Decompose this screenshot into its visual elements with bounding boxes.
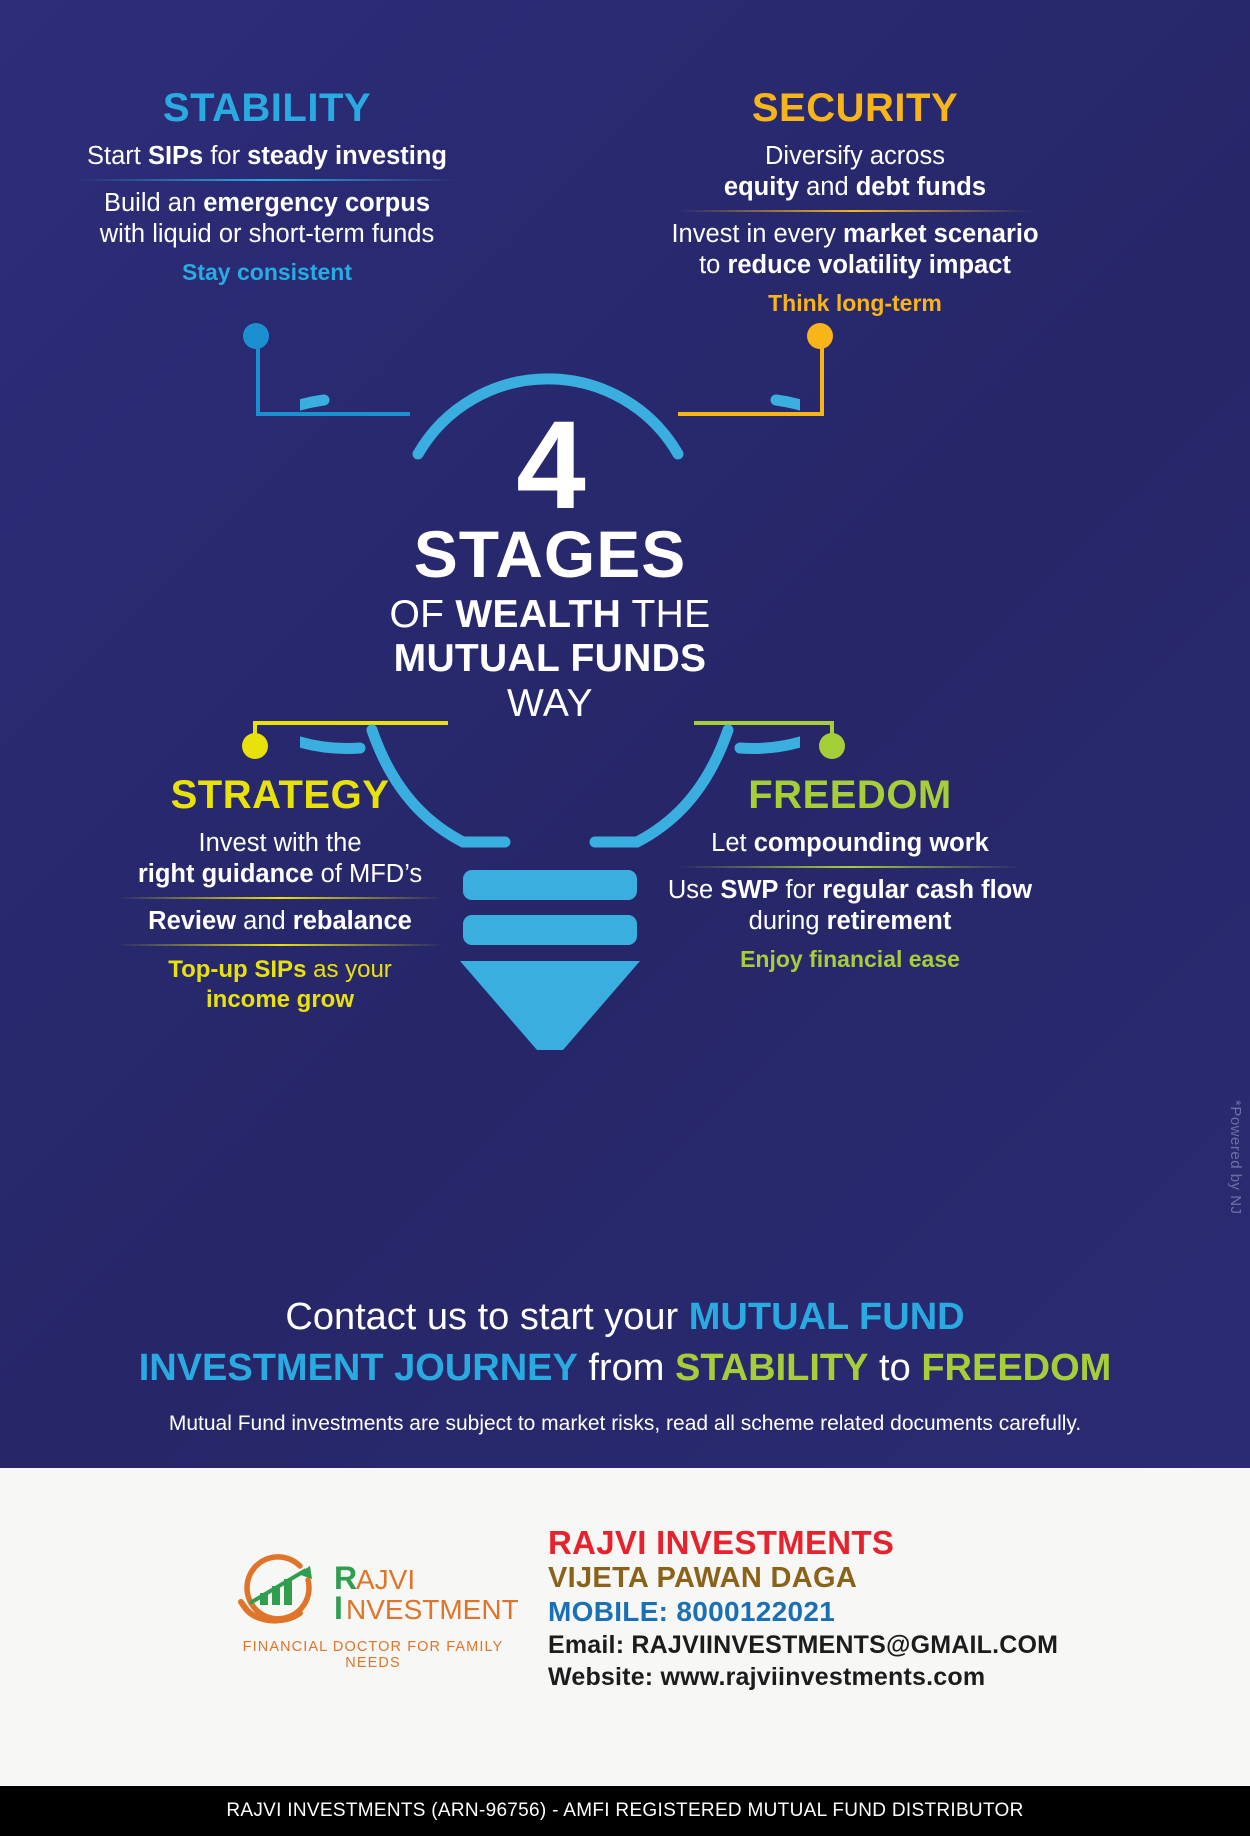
cta-p7: FREEDOM (921, 1347, 1111, 1389)
connector-dot-strategy (242, 733, 268, 759)
contact-mobile[interactable]: MOBILE: 8000122021 (548, 1595, 1058, 1629)
svg-text:I: I (334, 1590, 343, 1626)
cta-p5: STABILITY (675, 1347, 869, 1389)
stability-l2a: Build an (104, 189, 203, 217)
rajvi-logo-icon: R AJVI I NVESTMENTS (228, 1553, 518, 1631)
legal-text: RAJVI INVESTMENTS (ARN-96756) - AMFI REG… (0, 1786, 1250, 1836)
stability-title: STABILITY (32, 88, 502, 128)
stability-l1d: steady investing (247, 142, 447, 170)
security-title: SECURITY (640, 88, 1070, 128)
strategy-tag-a: Top-up SIPs (168, 956, 306, 983)
center-line-way: WAY (340, 682, 760, 726)
strategy-l1b: right guidance (138, 860, 314, 888)
center-wealth: WEALTH (455, 593, 621, 636)
security-l1d: debt funds (856, 173, 986, 201)
center-line-mutual: MUTUAL FUNDS (340, 637, 760, 681)
svg-text:AJVI: AJVI (356, 1564, 415, 1595)
cta-p3: INVESTMENT JOURNEY (139, 1347, 578, 1389)
cta-p6: to (869, 1347, 922, 1389)
center-of: OF (390, 593, 456, 636)
stability-divider (74, 179, 459, 181)
legal-bar: RAJVI INVESTMENTS (ARN-96756) - AMFI REG… (0, 1786, 1250, 1836)
stability-l1a: Start (87, 142, 148, 170)
strategy-l2b: and (236, 907, 293, 935)
contact-person: VIJETA PAWAN DAGA (548, 1562, 1058, 1595)
quadrant-security: SECURITY Diversify across equity and deb… (640, 88, 1070, 317)
stability-l1b: SIPs (148, 142, 203, 170)
security-l2a: Invest in every (671, 220, 843, 248)
contact-block: RAJVI INVESTMENTS VIJETA PAWAN DAGA MOBI… (548, 1525, 1058, 1693)
security-l2c: to (699, 251, 727, 279)
infographic-poster: 4 STAGES OF WEALTH THE MUTUAL FUNDS WAY … (0, 0, 1250, 1836)
quadrant-stability: STABILITY Start SIPs for steady investin… (32, 88, 502, 286)
center-headline: 4 STAGES OF WEALTH THE MUTUAL FUNDS WAY (340, 415, 760, 726)
connector-dot-freedom (819, 733, 845, 759)
main-panel: 4 STAGES OF WEALTH THE MUTUAL FUNDS WAY … (0, 0, 1250, 1468)
contact-website[interactable]: Website: www.rajviinvestments.com (548, 1661, 1058, 1693)
powered-by-label: *Powered by NJ (1227, 1100, 1244, 1215)
cta-p2: MUTUAL FUND (689, 1296, 965, 1338)
center-stages: STAGES (340, 520, 760, 589)
freedom-l2d: regular cash flow (822, 876, 1032, 904)
risk-disclaimer: Mutual Fund investments are subject to m… (60, 1412, 1190, 1436)
security-divider (679, 210, 1032, 212)
stability-tagline: Stay consistent (32, 259, 502, 286)
svg-text:NVESTMENTS: NVESTMENTS (346, 1594, 518, 1625)
contact-email[interactable]: Email: RAJVIINVESTMENTS@GMAIL.COM (548, 1629, 1058, 1661)
security-tagline: Think long-term (640, 290, 1070, 317)
strategy-l2a: Review (148, 907, 236, 935)
contact-company: RAJVI INVESTMENTS (548, 1525, 1058, 1562)
connector-dot-stability (243, 323, 269, 349)
security-l1a: Diversify across (765, 142, 945, 170)
connector-stem-security (820, 345, 824, 415)
stability-l2c: with liquid or short-term funds (100, 220, 434, 248)
security-line-2: Invest in every market scenario to reduc… (640, 219, 1070, 281)
stability-line-2: Build an emergency corpus with liquid or… (32, 188, 502, 250)
center-number: 4 (340, 415, 760, 518)
cta-p4: from (578, 1347, 675, 1389)
security-line-1: Diversify across equity and debt funds (640, 141, 1070, 203)
stability-l1c: for (203, 142, 247, 170)
cta-p1: Contact us to start your (285, 1296, 688, 1338)
security-l2b: market scenario (843, 220, 1039, 248)
security-l2d: reduce volatility impact (727, 251, 1010, 279)
connector-dot-security (807, 323, 833, 349)
security-l1b: equity (724, 173, 799, 201)
center-the: THE (621, 593, 710, 636)
security-l1c: and (799, 173, 856, 201)
stability-l2b: emergency corpus (203, 189, 430, 217)
stability-line-1: Start SIPs for steady investing (32, 141, 502, 172)
freedom-l2f: retirement (827, 907, 952, 935)
company-logo: R AJVI I NVESTMENTS FINANCIAL DOCTOR FOR… (228, 1553, 518, 1671)
call-to-action: Contact us to start your MUTUAL FUND INV… (60, 1292, 1190, 1393)
logo-tagline: FINANCIAL DOCTOR FOR FAMILY NEEDS (228, 1639, 518, 1671)
connector-stem-stability (256, 345, 260, 415)
center-line-wealth: OF WEALTH THE (340, 593, 760, 637)
